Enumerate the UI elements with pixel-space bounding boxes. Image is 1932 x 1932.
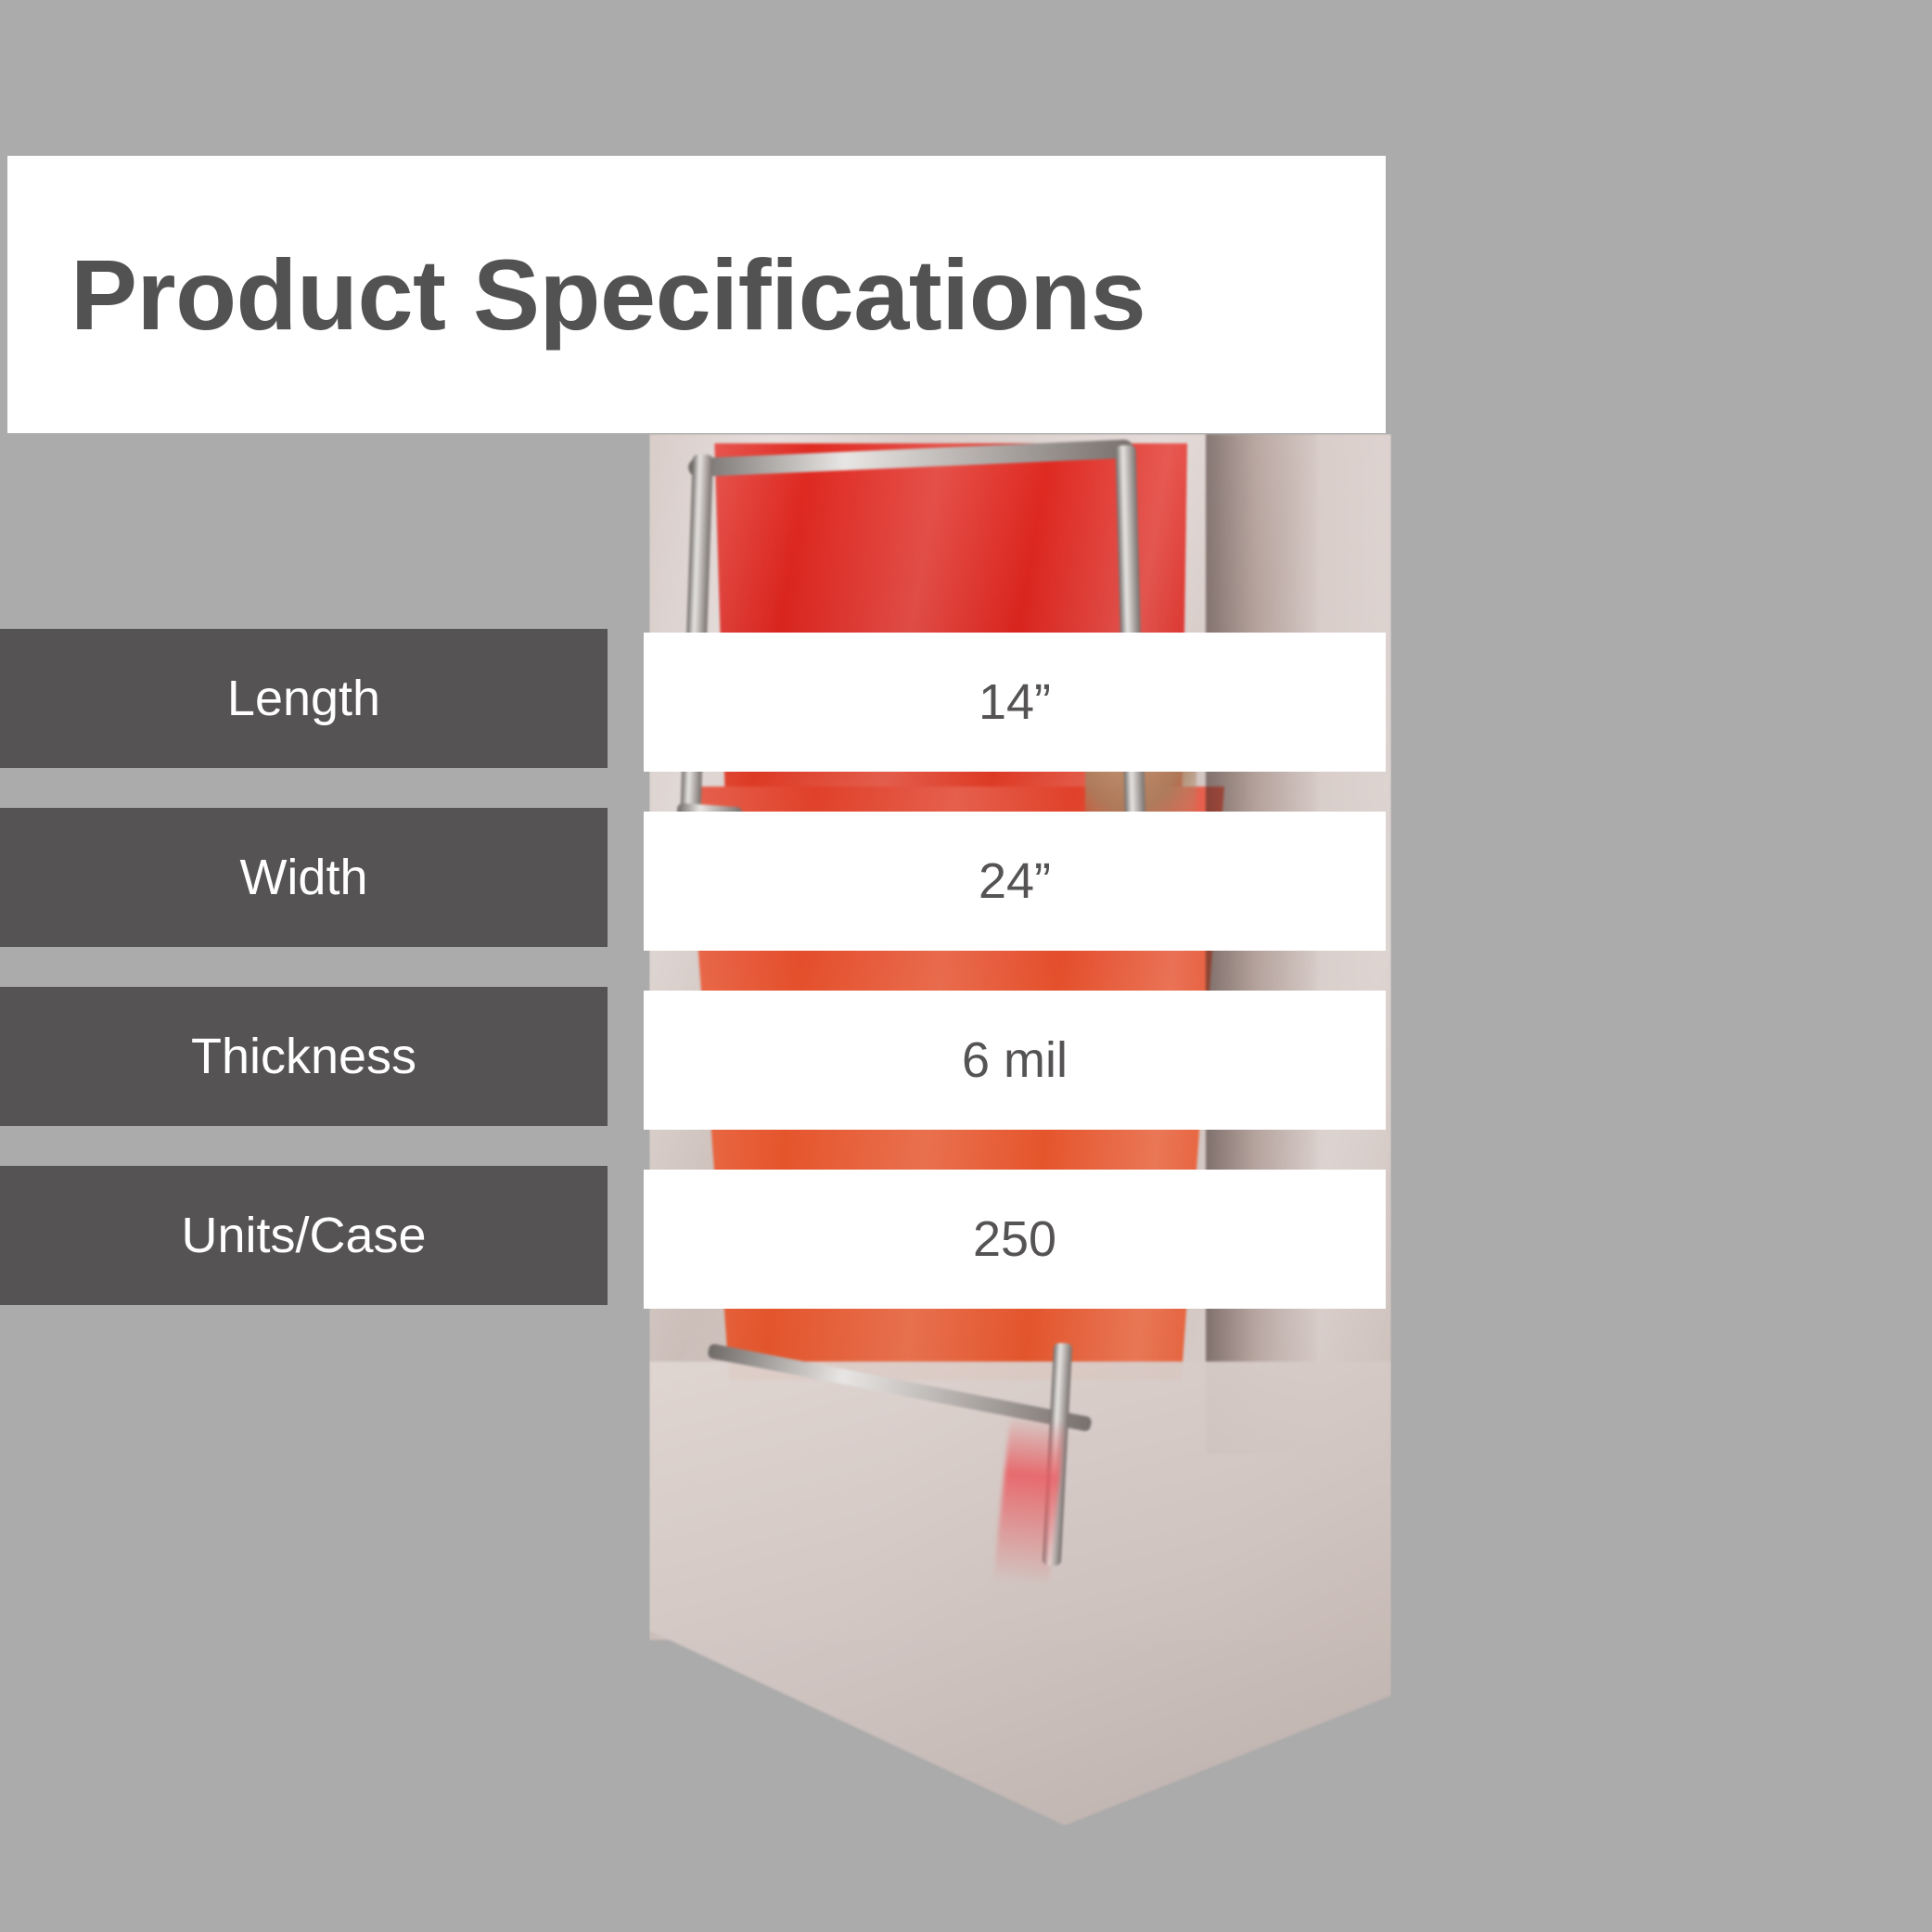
- spec-value-length: 14”: [644, 633, 1386, 772]
- title-card: Product Specifications: [7, 156, 1386, 433]
- spec-label-thickness: Thickness: [0, 987, 608, 1126]
- spec-label-units-per-case: Units/Case: [0, 1166, 608, 1305]
- spec-value-width: 24”: [644, 812, 1386, 951]
- page-title: Product Specifications: [70, 156, 1145, 433]
- spec-value-units-per-case: 250: [644, 1170, 1386, 1309]
- specification-infographic: Product Specifications Length 14” Width …: [0, 0, 1932, 1932]
- spec-value-thickness: 6 mil: [644, 991, 1386, 1130]
- spec-label-length: Length: [0, 629, 608, 768]
- spec-label-width: Width: [0, 808, 608, 947]
